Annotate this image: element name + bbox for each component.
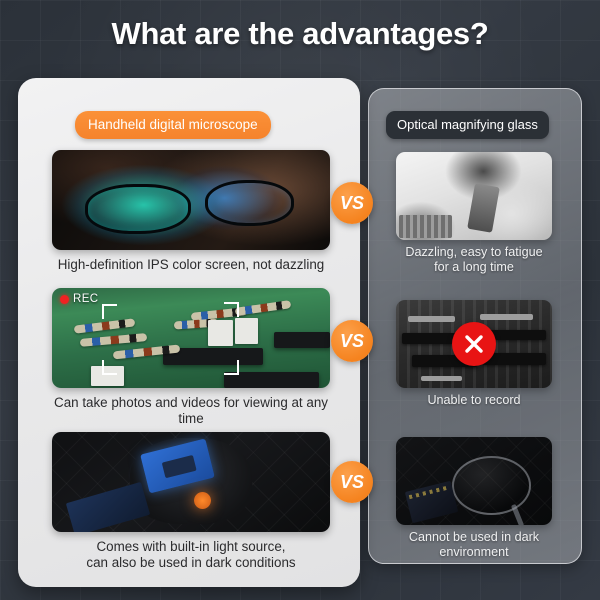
right-caption-2: Unable to record bbox=[396, 393, 552, 408]
lit-board-in-dark-photo bbox=[52, 432, 330, 532]
left-row-2: REC Can take photos and videos for viewi… bbox=[52, 288, 330, 427]
left-caption-2: Can take photos and videos for viewing a… bbox=[52, 395, 330, 427]
left-caption-1: High-definition IPS color screen, not da… bbox=[52, 257, 330, 273]
left-row-3: Comes with built-in light source, can al… bbox=[52, 432, 330, 571]
record-dot-icon bbox=[60, 295, 69, 304]
grayscale-circuit-board-photo bbox=[396, 300, 552, 388]
photo-art bbox=[396, 152, 552, 240]
page-title: What are the advantages? bbox=[0, 16, 600, 52]
vs-badge-1: VS bbox=[331, 182, 373, 224]
badge-handheld-digital-microscope: Handheld digital microscope bbox=[75, 111, 271, 139]
eyeglasses-reflecting-screen-photo bbox=[52, 150, 330, 250]
photo-art bbox=[52, 150, 330, 250]
x-mark-icon bbox=[452, 322, 496, 366]
rec-label: REC bbox=[73, 293, 98, 305]
right-row-3: Cannot be used in dark environment bbox=[396, 437, 552, 560]
left-row-1: High-definition IPS color screen, not da… bbox=[52, 150, 330, 273]
right-caption-1: Dazzling, easy to fatigue for a long tim… bbox=[396, 245, 552, 275]
infographic-root: What are the advantages? Handheld digita… bbox=[0, 0, 600, 600]
rec-indicator: REC bbox=[60, 293, 98, 305]
badge-optical-magnifying-glass: Optical magnifying glass bbox=[386, 111, 549, 139]
left-caption-3: Comes with built-in light source, can al… bbox=[52, 539, 330, 571]
green-circuit-board-photo: REC bbox=[52, 288, 330, 388]
man-straining-eyes-photo bbox=[396, 152, 552, 240]
right-row-1: Dazzling, easy to fatigue for a long tim… bbox=[396, 152, 552, 275]
magnifier-in-dark-photo bbox=[396, 437, 552, 525]
photo-art bbox=[396, 437, 552, 525]
vs-badge-3: VS bbox=[331, 461, 373, 503]
photo-art bbox=[52, 432, 330, 532]
right-row-2: Unable to record bbox=[396, 300, 552, 408]
right-caption-3: Cannot be used in dark environment bbox=[396, 530, 552, 560]
vs-badge-2: VS bbox=[331, 320, 373, 362]
